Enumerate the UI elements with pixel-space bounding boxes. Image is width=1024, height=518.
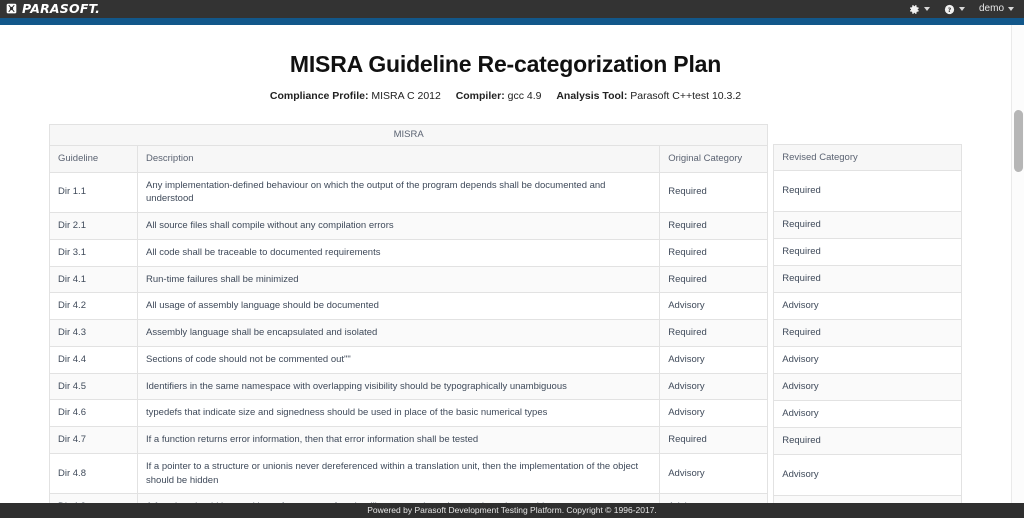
column-header-revised-category[interactable]: Revised Category	[774, 144, 962, 171]
accent-stripe	[0, 18, 1024, 25]
cell-guideline: Dir 4.8	[50, 453, 138, 494]
table-row[interactable]: Dir 4.5Identifiers in the same namespace…	[50, 373, 768, 400]
cell-description: Run-time failures shall be minimized	[138, 266, 660, 293]
cell-revised-category: Required	[774, 320, 962, 347]
cell-original-category: Required	[660, 172, 768, 213]
cell-original-category: Required	[660, 266, 768, 293]
page-footer: Powered by Parasoft Development Testing …	[0, 503, 1024, 518]
user-menu-label: demo	[979, 4, 1004, 14]
help-menu[interactable]: ?	[944, 4, 965, 15]
revised-table-row[interactable]: Required	[774, 266, 962, 293]
vertical-scrollbar[interactable]	[1011, 25, 1024, 503]
cell-revised-category: Required	[774, 266, 962, 293]
cell-description: All source files shall compile without a…	[138, 213, 660, 240]
cell-description: If a pointer to a structure or unionis n…	[138, 453, 660, 494]
cell-original-category: Advisory	[660, 494, 768, 503]
table-row[interactable]: Dir 4.9A function should be used in pref…	[50, 494, 768, 503]
settings-menu[interactable]	[909, 4, 930, 15]
table-row[interactable]: Dir 4.6typedefs that indicate size and s…	[50, 400, 768, 427]
revised-table-row[interactable]: Required	[774, 171, 962, 212]
cell-description: typedefs that indicate size and signedne…	[138, 400, 660, 427]
cell-revised-category: Advisory	[774, 496, 962, 503]
compliance-profile-value: MISRA C 2012	[371, 90, 440, 102]
revised-table-row[interactable]: Advisory	[774, 293, 962, 320]
cell-description: A function should be used in preference …	[138, 494, 660, 503]
compiler-label: Compiler:	[456, 90, 505, 102]
cell-revised-category: Required	[774, 428, 962, 455]
svg-text:?: ?	[948, 6, 952, 13]
cell-description: Assembly language shall be encapsulated …	[138, 320, 660, 347]
cell-revised-category: Advisory	[774, 347, 962, 374]
table-group-header-row: MISRA	[50, 125, 768, 146]
cell-original-category: Advisory	[660, 453, 768, 494]
revised-table-row[interactable]: Advisory	[774, 374, 962, 401]
compliance-profile-label: Compliance Profile:	[270, 90, 369, 102]
cell-original-category: Required	[660, 320, 768, 347]
column-header-guideline[interactable]: Guideline	[50, 145, 138, 172]
cell-original-category: Required	[660, 213, 768, 240]
cell-guideline: Dir 4.1	[50, 266, 138, 293]
help-circle-icon: ?	[944, 4, 955, 15]
revised-category-table: Revised Category RequiredRequiredRequire…	[773, 124, 962, 503]
cell-revised-category: Required	[774, 171, 962, 212]
revised-table-row[interactable]: Advisory	[774, 455, 962, 496]
revised-spacer-row	[774, 124, 962, 144]
table-header: MISRA Guideline Description Original Cat…	[50, 125, 768, 173]
cell-guideline: Dir 4.4	[50, 346, 138, 373]
table-row[interactable]: Dir 4.7If a function returns error infor…	[50, 427, 768, 454]
guidelines-table-container: MISRA Guideline Description Original Cat…	[49, 124, 962, 503]
chevron-down-icon	[1008, 7, 1014, 11]
group-header-misra: MISRA	[50, 125, 768, 146]
scrollbar-thumb[interactable]	[1014, 110, 1023, 172]
revised-column-header-row: Revised Category	[774, 144, 962, 171]
footer-text: Powered by Parasoft Development Testing …	[367, 506, 657, 515]
parasoft-logo-icon	[6, 3, 19, 16]
revised-table-row[interactable]: Required	[774, 239, 962, 266]
cell-guideline: Dir 3.1	[50, 239, 138, 266]
revised-table-row[interactable]: Advisory	[774, 401, 962, 428]
table-row[interactable]: Dir 4.2All usage of assembly language sh…	[50, 293, 768, 320]
cell-guideline: Dir 4.6	[50, 400, 138, 427]
cell-revised-category: Advisory	[774, 374, 962, 401]
revised-table-row[interactable]: Required	[774, 212, 962, 239]
misra-guidelines-table: MISRA Guideline Description Original Cat…	[49, 124, 768, 503]
cell-original-category: Required	[660, 427, 768, 454]
cell-description: If a function returns error information,…	[138, 427, 660, 454]
user-menu[interactable]: demo	[979, 4, 1014, 14]
cell-original-category: Advisory	[660, 373, 768, 400]
column-header-description[interactable]: Description	[138, 145, 660, 172]
revised-table-row[interactable]: Advisory	[774, 347, 962, 374]
revised-table-body: RequiredRequiredRequiredRequiredAdvisory…	[774, 171, 962, 503]
table-row[interactable]: Dir 3.1All code shall be traceable to do…	[50, 239, 768, 266]
cell-description: Identifiers in the same namespace with o…	[138, 373, 660, 400]
application-window: PARASOFT. ?	[0, 0, 1024, 518]
compiler-value: gcc 4.9	[508, 90, 542, 102]
table-row[interactable]: Dir 2.1All source files shall compile wi…	[50, 213, 768, 240]
gear-icon	[909, 4, 920, 15]
table-body: Dir 1.1Any implementation-defined behavi…	[50, 172, 768, 503]
revised-table-header: Revised Category	[774, 124, 962, 171]
cell-guideline: Dir 1.1	[50, 172, 138, 213]
cell-original-category: Advisory	[660, 400, 768, 427]
cell-revised-category: Advisory	[774, 293, 962, 320]
table-row[interactable]: Dir 1.1Any implementation-defined behavi…	[50, 172, 768, 213]
revised-table-row[interactable]: Advisory	[774, 496, 962, 503]
revised-table-row[interactable]: Required	[774, 320, 962, 347]
revised-header-spacer	[774, 124, 962, 144]
cell-revised-category: Advisory	[774, 401, 962, 428]
cell-guideline: Dir 2.1	[50, 213, 138, 240]
brand-logo[interactable]: PARASOFT.	[6, 3, 100, 16]
revised-table-row[interactable]: Required	[774, 428, 962, 455]
top-navigation-bar: PARASOFT. ?	[0, 0, 1024, 18]
top-nav-items: ? demo	[909, 4, 1014, 15]
analysis-tool-label: Analysis Tool:	[556, 90, 627, 102]
cell-guideline: Dir 4.9	[50, 494, 138, 503]
cell-guideline: Dir 4.7	[50, 427, 138, 454]
table-row[interactable]: Dir 4.4Sections of code should not be co…	[50, 346, 768, 373]
cell-description: All code shall be traceable to documente…	[138, 239, 660, 266]
table-column-header-row: Guideline Description Original Category	[50, 145, 768, 172]
table-row[interactable]: Dir 4.3Assembly language shall be encaps…	[50, 320, 768, 347]
cell-original-category: Advisory	[660, 346, 768, 373]
table-row[interactable]: Dir 4.1Run-time failures shall be minimi…	[50, 266, 768, 293]
cell-description: Sections of code should not be commented…	[138, 346, 660, 373]
cell-guideline: Dir 4.3	[50, 320, 138, 347]
brand-name: PARASOFT.	[22, 3, 100, 16]
cell-guideline: Dir 4.2	[50, 293, 138, 320]
cell-revised-category: Required	[774, 239, 962, 266]
cell-original-category: Advisory	[660, 293, 768, 320]
page-title: MISRA Guideline Re-categorization Plan	[0, 51, 1011, 78]
table-row[interactable]: Dir 4.8If a pointer to a structure or un…	[50, 453, 768, 494]
chevron-down-icon	[924, 7, 930, 11]
chevron-down-icon	[959, 7, 965, 11]
column-header-original-category[interactable]: Original Category	[660, 145, 768, 172]
report-metadata: Compliance Profile: MISRA C 2012 Compile…	[0, 90, 1011, 102]
cell-guideline: Dir 4.5	[50, 373, 138, 400]
cell-revised-category: Advisory	[774, 455, 962, 496]
analysis-tool-value: Parasoft C++test 10.3.2	[630, 90, 741, 102]
cell-description: All usage of assembly language should be…	[138, 293, 660, 320]
cell-revised-category: Required	[774, 212, 962, 239]
cell-description: Any implementation-defined behaviour on …	[138, 172, 660, 213]
page-content: MISRA Guideline Re-categorization Plan C…	[0, 25, 1011, 503]
cell-original-category: Required	[660, 239, 768, 266]
